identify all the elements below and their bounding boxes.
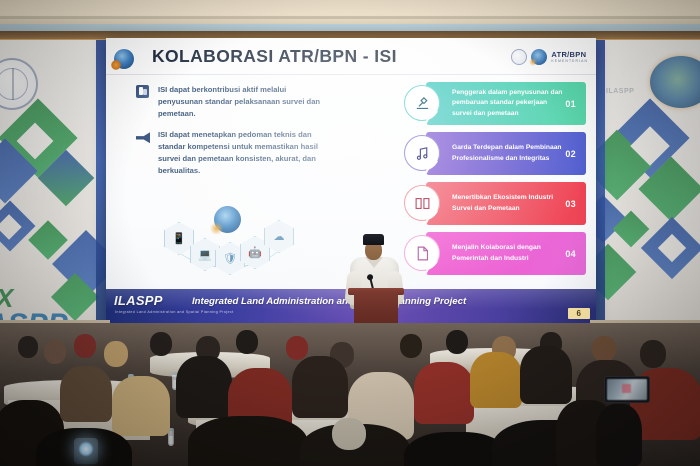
audience-head xyxy=(592,336,616,362)
card-body[interactable]: Penggerak dalam penyusunan dan pembaruan… xyxy=(426,82,586,125)
audience-person xyxy=(60,366,112,422)
page-title: KOLABORASI ATR/BPN - ISI xyxy=(152,46,397,67)
globe-icon xyxy=(214,206,241,233)
audience-person xyxy=(112,376,170,436)
document-icon xyxy=(404,235,440,271)
ministry-emblem-icon xyxy=(650,56,700,108)
card-number: 02 xyxy=(565,149,580,159)
hand-book-icon xyxy=(136,85,150,99)
audience-head xyxy=(236,330,258,354)
logo-subtitle: KEMENTERIAN xyxy=(551,60,588,63)
globe-icon xyxy=(114,49,134,69)
atrbpn-globe-icon xyxy=(531,49,547,65)
audience-head xyxy=(44,340,66,364)
page-number: 6 xyxy=(568,308,590,319)
ceiling xyxy=(0,0,700,26)
atrbpn-logo-text: ATR/BPN KEMENTERIAN xyxy=(551,51,588,63)
music-note-icon xyxy=(404,135,440,171)
list-item[interactable]: Menertibkan Ekosistem Industri Survei da… xyxy=(404,182,586,225)
numbered-card-list: Penggerak dalam penyusunan dan pembaruan… xyxy=(404,82,586,282)
card-text: Penggerak dalam penyusunan dan pembaruan… xyxy=(448,88,565,118)
audience-hand xyxy=(596,404,642,466)
bullet-list: ISI dapat berkontribusi aktif melalui pe… xyxy=(136,84,332,186)
open-book-icon xyxy=(404,185,440,221)
audience-person xyxy=(292,356,348,418)
card-body[interactable]: Menertibkan Ekosistem Industri Survei da… xyxy=(426,182,586,225)
stamp-icon xyxy=(404,85,440,121)
card-text: Garda Terdepan dalam Pembinaan Profesion… xyxy=(448,143,565,163)
audience-head xyxy=(332,418,366,450)
stage-spotlight xyxy=(74,438,98,464)
list-item[interactable]: Menjalin Kolaborasi dengan Pemerintah da… xyxy=(404,232,586,275)
slide-header: KOLABORASI ATR/BPN - ISI ATR/BPN KEMENTE… xyxy=(106,42,596,76)
ministry-seal-icon xyxy=(511,49,527,65)
backdrop-text: ILASPP xyxy=(606,88,634,95)
card-body[interactable]: Menjalin Kolaborasi dengan Pemerintah da… xyxy=(426,232,586,275)
card-number: 03 xyxy=(565,199,580,209)
list-item: ISI dapat menetapkan pedoman teknis dan … xyxy=(136,129,332,176)
banner-subtitle: Integrated Land Administration and Spati… xyxy=(192,296,466,307)
brand-logo-text: ILASPP xyxy=(114,293,163,308)
audience-person xyxy=(520,346,572,404)
header-divider xyxy=(106,74,596,75)
bullet-text: ISI dapat berkontribusi aktif melalui pe… xyxy=(158,84,332,119)
bullet-text: ISI dapat menetapkan pedoman teknis dan … xyxy=(158,129,332,176)
logo-name: ATR/BPN xyxy=(551,51,588,59)
megaphone-icon xyxy=(136,130,150,144)
audience-head xyxy=(400,334,422,358)
audience-head xyxy=(446,330,468,354)
card-body[interactable]: Garda Terdepan dalam Pembinaan Profesion… xyxy=(426,132,586,175)
backdrop-left: X ASPP xyxy=(0,40,106,340)
phone-screen xyxy=(607,379,647,400)
card-number: 04 xyxy=(565,249,580,259)
audience-person xyxy=(188,416,308,466)
ceiling-seam xyxy=(0,16,700,19)
ministry-logo-group: ATR/BPN KEMENTERIAN xyxy=(511,49,588,65)
backdrop-right: ILASPP xyxy=(596,40,700,340)
audience-head xyxy=(18,336,38,358)
audience-head xyxy=(74,334,96,358)
audience-head xyxy=(640,340,666,368)
audience-head xyxy=(286,336,308,360)
black-peci-hat xyxy=(363,234,384,245)
audience-person xyxy=(176,356,232,418)
list-item[interactable]: Penggerak dalam penyusunan dan pembaruan… xyxy=(404,82,586,125)
card-number: 01 xyxy=(565,99,580,109)
list-item: ISI dapat berkontribusi aktif melalui pe… xyxy=(136,84,332,119)
smartphone-camera xyxy=(604,376,650,403)
list-item[interactable]: Garda Terdepan dalam Pembinaan Profesion… xyxy=(404,132,586,175)
audience-person xyxy=(470,352,522,408)
audience-person xyxy=(414,362,474,424)
conference-hall-scene: X ASPP ILASPP KOLABORASI ATR/BPN - ISI A… xyxy=(0,0,700,466)
card-text: Menertibkan Ekosistem Industri Survei da… xyxy=(448,193,565,213)
audience-head xyxy=(150,332,172,356)
card-text: Menjalin Kolaborasi dengan Pemerintah da… xyxy=(448,243,565,263)
audience-head xyxy=(104,341,128,367)
hexagon-network-graphic: 📱 💻 🛡 🤖 ☁ xyxy=(158,206,298,268)
brand-tagline: Integrated Land Administration and Spati… xyxy=(115,310,234,314)
